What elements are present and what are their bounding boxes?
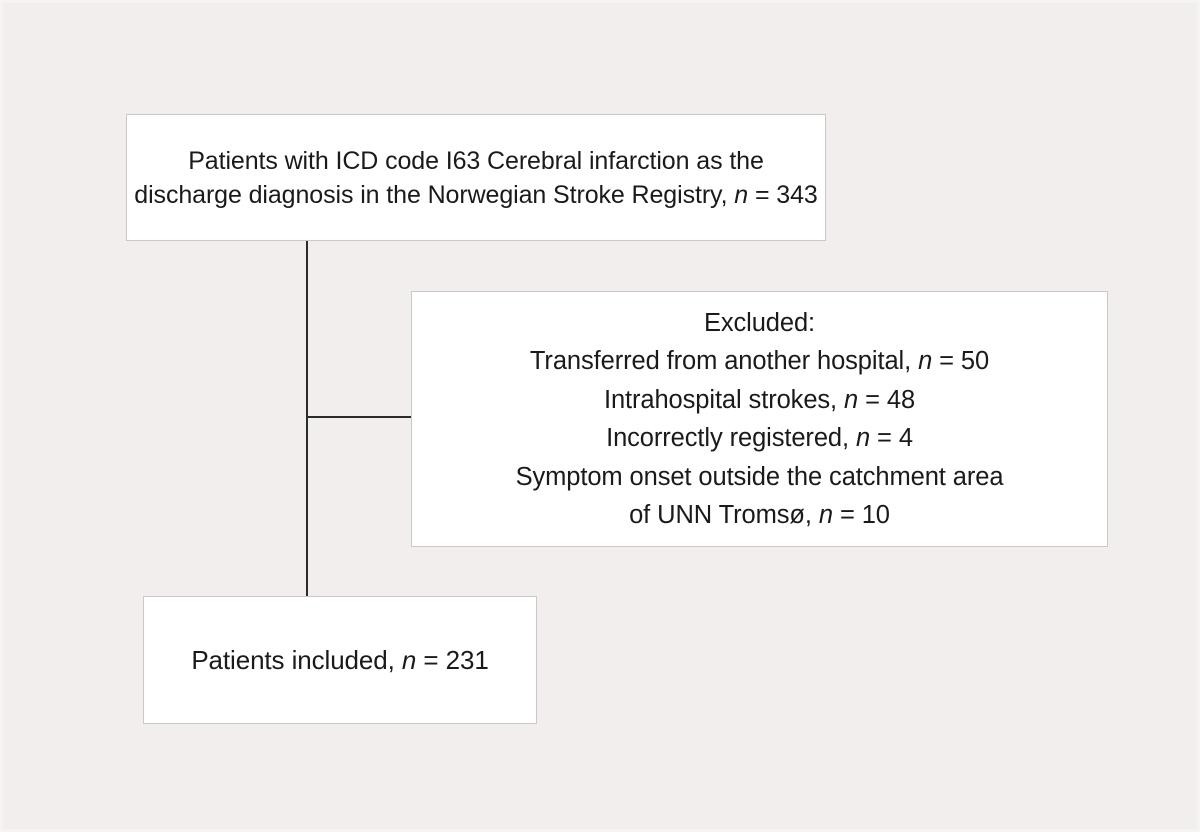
excluded-reason-transferred-label: Transferred from another hospital, bbox=[530, 347, 918, 375]
excluded-reason-incorrect-label: Incorrectly registered, bbox=[606, 424, 856, 452]
connector-horizontal-line bbox=[306, 416, 412, 418]
source-population-line-2-text: discharge diagnosis in the Norwegian Str… bbox=[134, 181, 734, 209]
excluded-reason-catchment-count: = 10 bbox=[833, 501, 890, 529]
source-population-n-symbol: n bbox=[734, 181, 748, 209]
excluded-reason-catchment-line-1: Symptom onset outside the catchment area bbox=[516, 458, 1004, 497]
excluded-reason-incorrect-count: = 4 bbox=[870, 424, 913, 452]
excluded-reason-intrahospital-label: Intrahospital strokes, bbox=[604, 386, 844, 414]
source-population-count: = 343 bbox=[748, 181, 818, 209]
excluded-heading: Excluded: bbox=[704, 304, 815, 343]
flowchart-figure: Patients with ICD code I63 Cerebral infa… bbox=[0, 0, 1200, 832]
included-n-symbol: n bbox=[402, 645, 416, 675]
source-population-line-1: Patients with ICD code I63 Cerebral infa… bbox=[188, 144, 764, 178]
excluded-reason-incorrect-n-symbol: n bbox=[856, 424, 870, 452]
excluded-reason-transferred: Transferred from another hospital, n = 5… bbox=[530, 342, 989, 381]
excluded-reason-catchment-line-2: of UNN Tromsø, n = 10 bbox=[629, 496, 890, 535]
included-count: = 231 bbox=[416, 645, 488, 675]
source-population-line-2: discharge diagnosis in the Norwegian Str… bbox=[134, 178, 817, 212]
included-line: Patients included, n = 231 bbox=[191, 643, 488, 677]
excluded-reason-incorrect: Incorrectly registered, n = 4 bbox=[606, 419, 913, 458]
excluded-reason-intrahospital-count: = 48 bbox=[858, 386, 915, 414]
connector-vertical-line bbox=[306, 241, 308, 596]
included-box: Patients included, n = 231 bbox=[143, 596, 537, 724]
excluded-reason-intrahospital: Intrahospital strokes, n = 48 bbox=[604, 381, 915, 420]
excluded-reason-intrahospital-n-symbol: n bbox=[844, 386, 858, 414]
excluded-reason-catchment-n-symbol: n bbox=[819, 501, 833, 529]
excluded-reason-catchment-label: of UNN Tromsø, bbox=[629, 501, 819, 529]
excluded-box: Excluded: Transferred from another hospi… bbox=[411, 291, 1108, 547]
included-label: Patients included, bbox=[191, 645, 402, 675]
excluded-reason-transferred-n-symbol: n bbox=[918, 347, 932, 375]
source-population-box: Patients with ICD code I63 Cerebral infa… bbox=[126, 114, 826, 241]
excluded-reason-transferred-count: = 50 bbox=[932, 347, 989, 375]
